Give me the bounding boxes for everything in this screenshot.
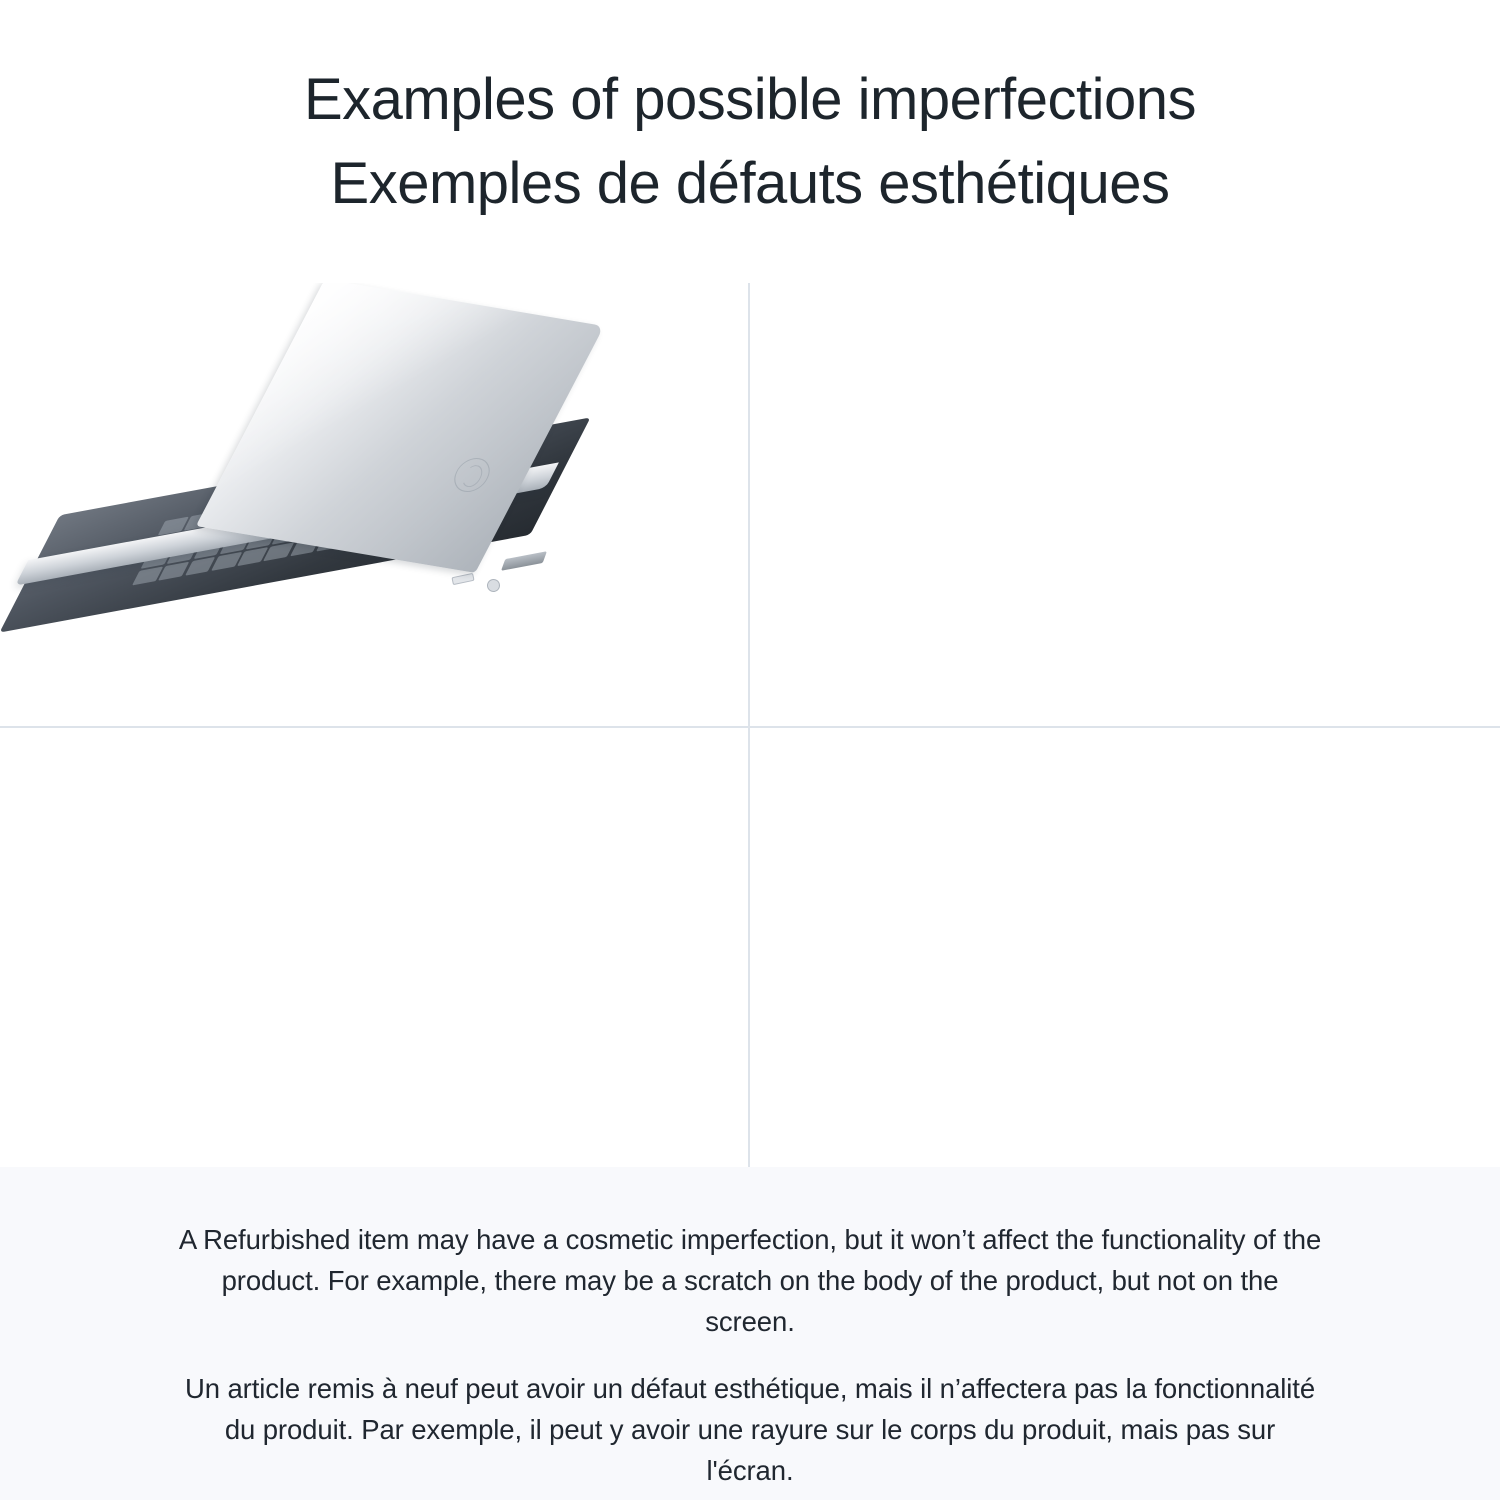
disclaimer-fr: Un article remis à neuf peut avoir un dé… bbox=[178, 1368, 1322, 1491]
laptop-lid-highlight bbox=[196, 283, 604, 573]
grid-divider-horizontal bbox=[0, 726, 1500, 728]
quadrant-laptop bbox=[0, 283, 748, 727]
disclaimer-en: A Refurbished item may have a cosmetic i… bbox=[178, 1219, 1322, 1342]
quadrant-smartphone bbox=[0, 728, 748, 1167]
laptop-audio-port bbox=[486, 578, 501, 593]
laptop-usb-port bbox=[451, 573, 474, 585]
page-title: Examples of possible imperfections Exemp… bbox=[0, 58, 1500, 226]
footer-disclaimer: A Refurbished item may have a cosmetic i… bbox=[0, 1167, 1500, 1500]
examples-grid: INSIGNIA bbox=[0, 283, 1500, 1167]
refurbished-imperfections-infographic: Examples of possible imperfections Exemp… bbox=[0, 0, 1500, 1500]
laptop-illustration bbox=[0, 283, 748, 727]
laptop-hinge bbox=[501, 551, 547, 571]
grid-divider-vertical bbox=[748, 283, 750, 1167]
title-line-fr: Exemples de défauts esthétiques bbox=[0, 142, 1500, 226]
quadrant-pressure-cooker: INSIGNIA INSIGNIA 8:00 bbox=[749, 728, 1500, 1167]
quadrant-television: INSIGNIA bbox=[749, 283, 1500, 727]
title-line-en: Examples of possible imperfections bbox=[0, 58, 1500, 142]
